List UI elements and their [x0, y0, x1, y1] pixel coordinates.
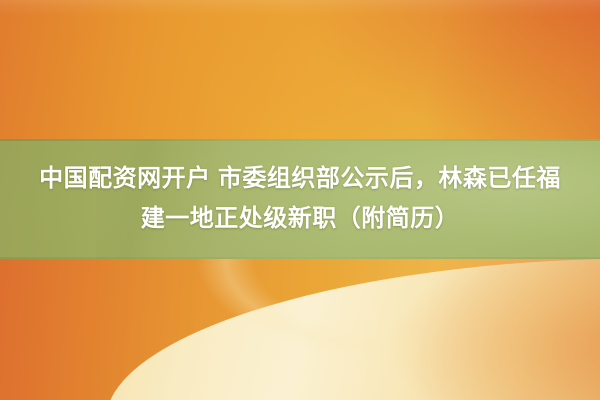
headline-line-1: 中国配资网开户 市委组织部公示后，林森已任福: [39, 159, 561, 199]
background-top-seam-lines: [0, 0, 600, 16]
background-bottom-right-wash: [0, 259, 600, 400]
banner-image: 中国配资网开户 市委组织部公示后，林森已任福 建一地正处级新职（附简历）: [0, 0, 600, 400]
headline-line-2: 建一地正处级新职（附简历）: [141, 199, 460, 239]
headline-block: 中国配资网开户 市委组织部公示后，林森已任福 建一地正处级新职（附简历）: [0, 139, 600, 259]
